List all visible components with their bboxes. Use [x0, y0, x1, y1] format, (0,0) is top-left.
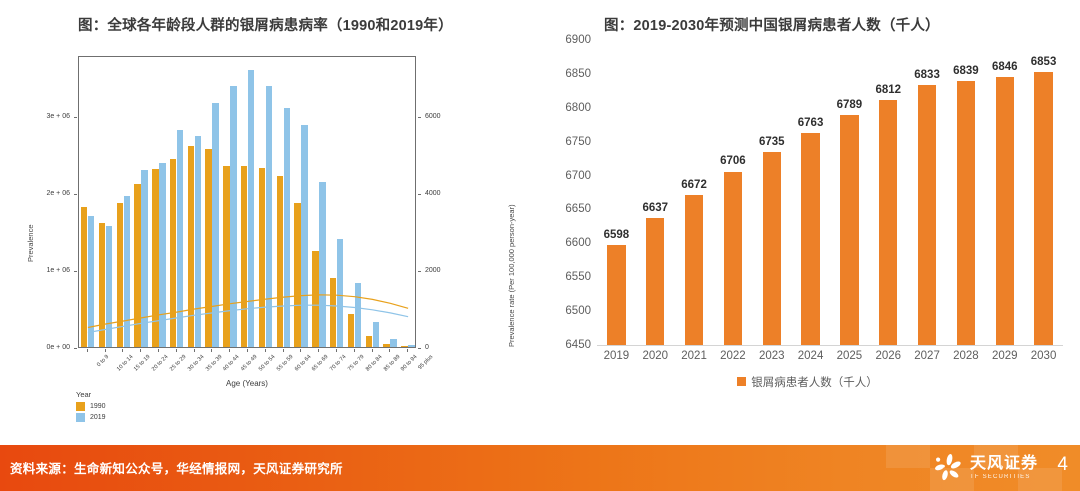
right-chart-legend-label: 银屑病患者人数（千人）	[751, 377, 878, 389]
left-chart-x-tick-label: 60 to 64	[294, 354, 313, 373]
right-chart-bar	[918, 85, 936, 345]
left-chart-x-tick-mark	[105, 349, 106, 352]
left-chart-x-tick-label: 55 to 59	[276, 354, 295, 373]
right-chart-bar	[879, 100, 897, 345]
left-chart-y-tick-label: 1e + 06	[26, 267, 70, 274]
right-chart-legend: 银屑病患者人数（千人）	[545, 374, 1070, 390]
right-chart-y-tick-label: 6900	[545, 34, 591, 46]
left-chart-x-tick-mark	[265, 349, 266, 352]
left-chart: Prevalence Prevalence rate (Per 100,000 …	[14, 42, 534, 440]
right-chart: 6450650065506600665067006750680068506900…	[545, 34, 1070, 399]
left-chart-y-tick-mark	[74, 271, 77, 272]
right-chart-data-label: 6839	[947, 65, 986, 77]
left-chart-plot-area	[78, 56, 416, 348]
left-chart-x-tick-mark	[158, 349, 159, 352]
right-chart-bar	[607, 245, 625, 345]
right-chart-y-tick-label: 6850	[545, 68, 591, 80]
left-chart-x-tick-label: 10 to 14	[116, 354, 135, 373]
footer-bar: 资料来源：生命新知公众号，华经情报网，天风证券研究所 天风证券 TF SECUR…	[0, 445, 1080, 491]
left-chart-secondary-y-tick-label: 2000	[425, 267, 465, 274]
left-chart-x-tick-label: 35 to 39	[205, 354, 224, 373]
legend-item-2019: 2019	[76, 413, 106, 422]
right-chart-axis-line	[597, 345, 1063, 346]
left-chart-x-tick-mark	[122, 349, 123, 352]
left-chart-secondary-y-tick-label: 6000	[425, 113, 465, 120]
right-chart-x-tick-label: 2021	[675, 350, 714, 362]
right-chart-data-label: 6763	[791, 117, 830, 129]
right-chart-y-tick-label: 6750	[545, 136, 591, 148]
right-chart-x-tick-label: 2024	[791, 350, 830, 362]
right-chart-data-label: 6672	[675, 179, 714, 191]
right-chart-x-tick-label: 2029	[985, 350, 1024, 362]
left-chart-secondary-y-tick-label: 4000	[425, 190, 465, 197]
right-chart-data-label: 6833	[908, 69, 947, 81]
right-chart-x-tick-label: 2030	[1024, 350, 1063, 362]
left-chart-x-tick-mark	[283, 349, 284, 352]
right-chart-bar	[840, 115, 858, 345]
left-chart-trend-lines	[79, 57, 416, 348]
legend-title: Year	[76, 390, 106, 399]
left-chart-x-tick-mark	[372, 349, 373, 352]
right-chart-data-label: 6735	[752, 136, 791, 148]
left-chart-x-tick-mark	[87, 349, 88, 352]
left-chart-x-tick-label: 75 to 79	[347, 354, 366, 373]
left-chart-x-tick-mark	[336, 349, 337, 352]
right-chart-title: 图：2019-2030年预测中国银屑病患者人数（千人）	[604, 14, 940, 35]
left-chart-secondary-y-tick-mark	[418, 271, 421, 272]
right-chart-bar	[957, 81, 975, 345]
right-chart-y-tick-label: 6650	[545, 203, 591, 215]
right-chart-bar	[801, 133, 819, 345]
right-chart-y-tick-label: 6700	[545, 170, 591, 182]
right-chart-plot-area	[597, 40, 1063, 345]
right-chart-bar	[1034, 72, 1052, 345]
left-chart-x-tick-mark	[194, 349, 195, 352]
right-chart-y-tick-label: 6500	[545, 305, 591, 317]
legend-label-1990: 1990	[90, 403, 106, 410]
right-chart-x-tick-label: 2023	[752, 350, 791, 362]
left-chart-x-tick-mark	[140, 349, 141, 352]
right-chart-bar	[996, 77, 1014, 345]
legend-swatch-icon	[737, 377, 746, 386]
right-chart-x-tick-label: 2025	[830, 350, 869, 362]
left-chart-legend: Year 1990 2019	[76, 390, 106, 424]
left-chart-x-tick-mark	[318, 349, 319, 352]
left-chart-x-tick-label: 95 plus	[417, 354, 434, 371]
left-chart-y-tick-mark	[74, 194, 77, 195]
right-chart-bar	[763, 152, 781, 345]
right-chart-data-label: 6637	[636, 202, 675, 214]
source-text: 资料来源：生命新知公众号，华经情报网，天风证券研究所	[10, 458, 343, 477]
left-chart-secondary-y-axis-title: Prevalence rate (Per 100,000 person-year…	[507, 204, 516, 347]
left-chart-y-tick-label: 3e + 06	[26, 113, 70, 120]
right-chart-data-label: 6789	[830, 99, 869, 111]
left-chart-x-tick-label: 90 to 94	[400, 354, 419, 373]
company-logo: 天风证券 TF SECURITIES	[933, 451, 1038, 485]
right-chart-y-tick-label: 6800	[545, 102, 591, 114]
left-chart-x-tick-mark	[300, 349, 301, 352]
right-chart-bar	[685, 195, 703, 345]
left-chart-x-tick-mark	[247, 349, 248, 352]
left-chart-x-tick-label: 85 to 89	[382, 354, 401, 373]
right-chart-data-label: 6846	[985, 61, 1024, 73]
left-chart-x-tick-label: 50 to 54	[258, 354, 277, 373]
slide-page: 图：全球各年龄段人群的银屑病患病率（1990和2019年） 图：2019-203…	[0, 0, 1080, 491]
left-chart-x-axis-title: Age (Years)	[78, 379, 416, 388]
left-chart-y-tick-label: 0e + 00	[26, 344, 70, 351]
page-number: 4	[1057, 454, 1068, 476]
left-chart-y-tick-mark	[74, 348, 77, 349]
right-chart-data-label: 6812	[869, 84, 908, 96]
left-chart-x-tick-mark	[211, 349, 212, 352]
left-chart-secondary-y-tick-mark	[418, 348, 421, 349]
left-chart-x-tick-label: 25 to 29	[169, 354, 188, 373]
left-chart-secondary-y-tick-mark	[418, 117, 421, 118]
right-chart-data-label: 6853	[1024, 56, 1063, 68]
logo-text: 天风证券 TF SECURITIES	[970, 456, 1038, 480]
right-chart-y-tick-label: 6450	[545, 339, 591, 351]
right-chart-x-tick-label: 2022	[714, 350, 753, 362]
left-chart-x-tick-mark	[176, 349, 177, 352]
right-chart-bar	[646, 218, 664, 345]
left-chart-title: 图：全球各年龄段人群的银屑病患病率（1990和2019年）	[78, 14, 453, 35]
right-chart-data-label: 6598	[597, 229, 636, 241]
right-chart-x-tick-label: 2020	[636, 350, 675, 362]
left-chart-x-tick-label: 15 to 19	[133, 354, 152, 373]
left-chart-x-tick-label: 45 to 49	[240, 354, 259, 373]
left-chart-x-tick-mark	[407, 349, 408, 352]
logo-name-en: TF SECURITIES	[970, 474, 1038, 480]
left-chart-x-tick-mark	[354, 349, 355, 352]
legend-item-1990: 1990	[76, 402, 106, 411]
legend-label-2019: 2019	[90, 414, 106, 421]
left-chart-x-tick-label: 65 to 69	[311, 354, 330, 373]
legend-swatch-1990-icon	[76, 402, 85, 411]
right-chart-bar	[724, 172, 742, 346]
right-chart-x-tick-label: 2019	[597, 350, 636, 362]
left-chart-x-tick-mark	[389, 349, 390, 352]
left-chart-y-axis-title: Prevalence	[26, 224, 35, 262]
left-chart-x-tick-label: 20 to 24	[151, 354, 170, 373]
left-chart-x-tick-label: 0 to 9	[96, 354, 110, 368]
right-chart-x-tick-label: 2027	[908, 350, 947, 362]
left-chart-secondary-y-tick-label: 0	[425, 344, 465, 351]
left-chart-y-tick-label: 2e + 06	[26, 190, 70, 197]
left-chart-secondary-y-tick-mark	[418, 194, 421, 195]
left-chart-trend-line	[88, 295, 408, 328]
left-chart-x-tick-label: 70 to 74	[329, 354, 348, 373]
right-chart-x-tick-label: 2028	[947, 350, 986, 362]
right-chart-x-tick-label: 2026	[869, 350, 908, 362]
right-chart-y-tick-label: 6550	[545, 271, 591, 283]
right-chart-y-tick-label: 6600	[545, 237, 591, 249]
left-chart-y-tick-mark	[74, 117, 77, 118]
tf-leaf-logo-icon	[933, 453, 963, 483]
left-chart-x-tick-label: 80 to 84	[365, 354, 384, 373]
left-chart-x-tick-label: 30 to 34	[187, 354, 206, 373]
right-chart-data-label: 6706	[714, 155, 753, 167]
left-chart-x-tick-mark	[229, 349, 230, 352]
logo-name-cn: 天风证券	[970, 456, 1038, 472]
left-chart-x-tick-label: 40 to 44	[222, 354, 241, 373]
legend-swatch-2019-icon	[76, 413, 85, 422]
